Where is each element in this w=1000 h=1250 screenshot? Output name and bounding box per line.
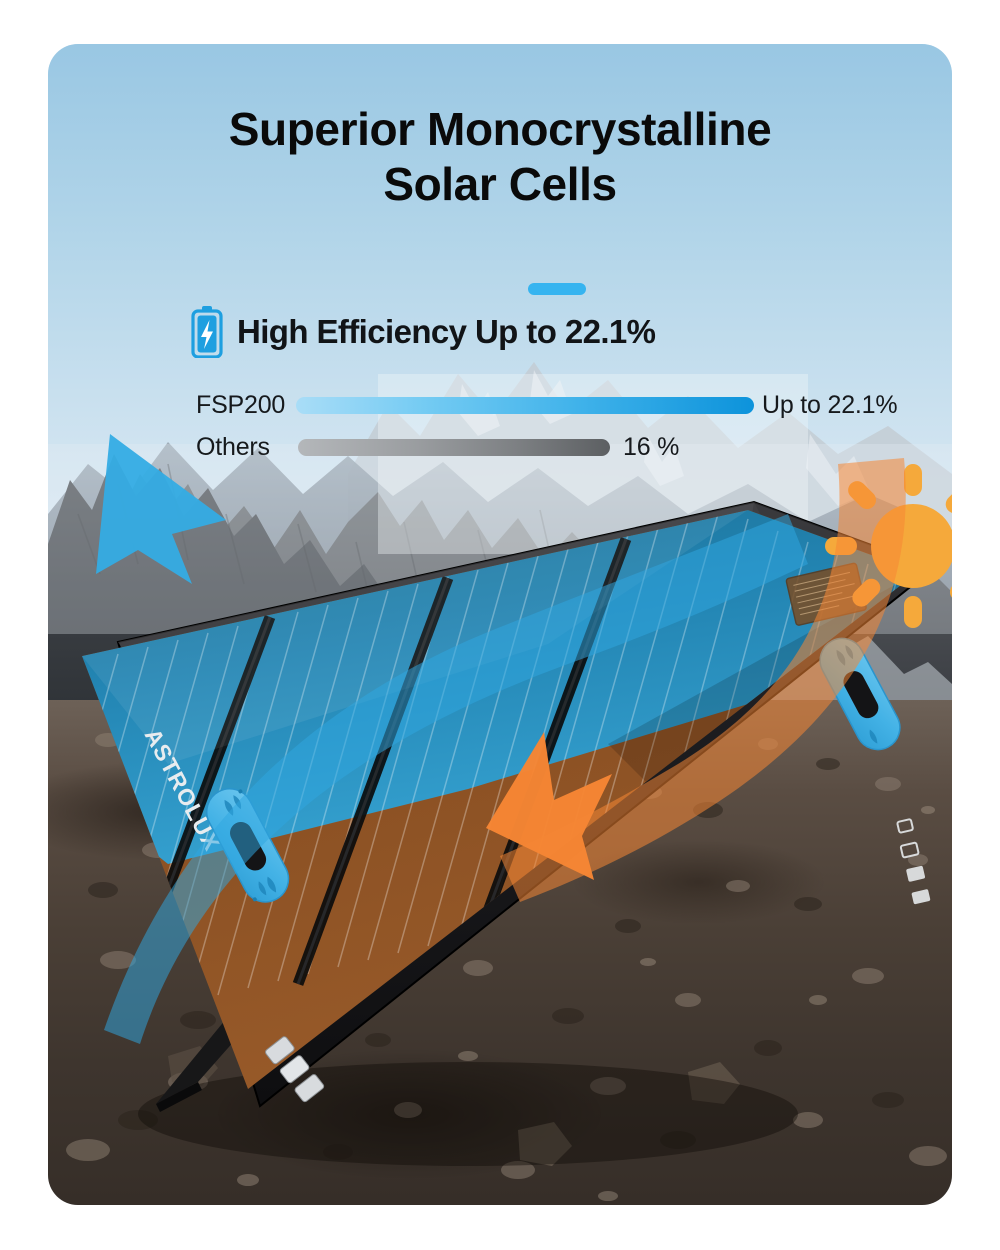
- product-infographic: ASTROLUX: [0, 0, 1000, 1250]
- page-title: Superior Monocrystalline Solar Cells: [48, 102, 952, 212]
- bar-track-others: [298, 439, 610, 456]
- bar-value-fsp200: Up to 22.1%: [762, 391, 897, 420]
- bar-label-others: Others: [196, 433, 296, 462]
- title-line-1: Superior Monocrystalline: [229, 103, 772, 155]
- photo-card: ASTROLUX: [48, 44, 952, 1205]
- portable-solar-panel: ASTROLUX: [48, 44, 952, 1205]
- title-line-2: Solar Cells: [48, 157, 952, 212]
- efficiency-callout: High Efficiency Up to 22.1%: [191, 302, 655, 362]
- bar-track-fsp200: [296, 397, 754, 414]
- bar-row-fsp200: FSP200 Up to 22.1%: [196, 388, 926, 422]
- bar-value-others: 16 %: [623, 433, 679, 462]
- battery-charging-icon: [191, 306, 223, 358]
- bar-row-others: Others 16 %: [196, 430, 926, 464]
- panel-handle-right: [812, 631, 907, 758]
- accent-dash: [528, 283, 586, 295]
- port-icons: [895, 819, 930, 905]
- bar-label-fsp200: FSP200: [196, 391, 296, 420]
- efficiency-bar-chart: FSP200 Up to 22.1% Others 16 %: [196, 388, 926, 464]
- efficiency-headline: High Efficiency Up to 22.1%: [237, 313, 655, 351]
- sun-icon: [823, 462, 952, 632]
